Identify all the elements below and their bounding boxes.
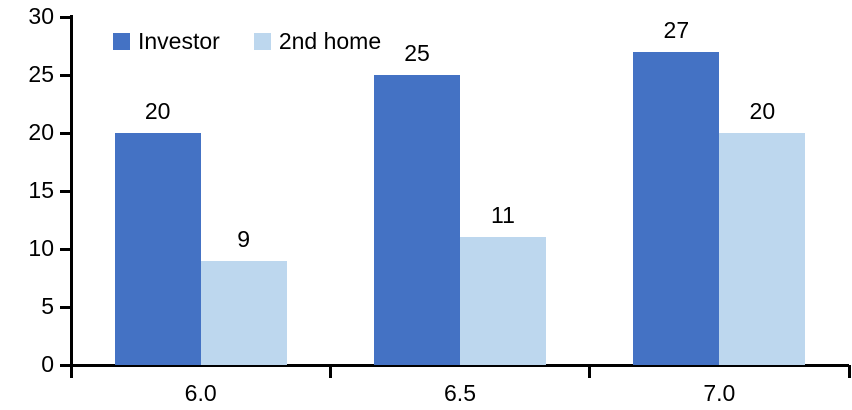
x-axis-tick xyxy=(329,365,332,378)
legend-item-2nd-home[interactable]: 2nd home xyxy=(254,30,381,53)
legend-swatch-icon-investor xyxy=(113,33,130,50)
bar-chart: Investor 2nd home 051015202530 6.06.57.0… xyxy=(0,0,852,410)
y-axis-tick xyxy=(60,132,71,135)
bar-2nd-home-6.0[interactable] xyxy=(201,261,287,365)
bar-investor-6.5[interactable] xyxy=(374,75,460,365)
y-axis-label: 5 xyxy=(0,295,54,318)
y-axis-tick xyxy=(60,190,71,193)
x-axis-label: 6.0 xyxy=(185,382,217,405)
bar-2nd-home-7.0[interactable] xyxy=(719,133,805,365)
bar-investor-6.0[interactable] xyxy=(115,133,201,365)
legend-swatch-icon-2nd-home xyxy=(254,33,271,50)
bar-value-label: 20 xyxy=(145,100,171,123)
x-axis-tick xyxy=(70,365,73,378)
x-axis-label: 6.5 xyxy=(444,382,476,405)
y-axis-tick xyxy=(60,16,71,19)
bar-value-label: 9 xyxy=(237,228,250,251)
y-axis-label: 0 xyxy=(0,353,54,376)
bar-value-label: 27 xyxy=(664,19,690,42)
chart-legend: Investor 2nd home xyxy=(113,30,381,53)
bar-investor-7.0[interactable] xyxy=(633,52,719,365)
y-axis-label: 25 xyxy=(0,63,54,86)
y-axis-tick xyxy=(60,248,71,251)
x-axis-label: 7.0 xyxy=(703,382,735,405)
bar-value-label: 25 xyxy=(404,42,430,65)
bar-value-label: 11 xyxy=(491,204,515,227)
x-axis-tick xyxy=(588,365,591,378)
y-axis-label: 10 xyxy=(0,237,54,260)
y-axis-label: 30 xyxy=(0,5,54,28)
y-axis-tick xyxy=(60,74,71,77)
legend-label-2nd-home: 2nd home xyxy=(279,30,381,53)
y-axis-label: 15 xyxy=(0,179,54,202)
y-axis-label: 20 xyxy=(0,121,54,144)
legend-item-investor[interactable]: Investor xyxy=(113,30,220,53)
y-axis-tick xyxy=(60,306,71,309)
bar-2nd-home-6.5[interactable] xyxy=(460,237,546,365)
bar-value-label: 20 xyxy=(750,100,776,123)
x-axis-tick xyxy=(848,365,851,378)
legend-label-investor: Investor xyxy=(138,30,220,53)
